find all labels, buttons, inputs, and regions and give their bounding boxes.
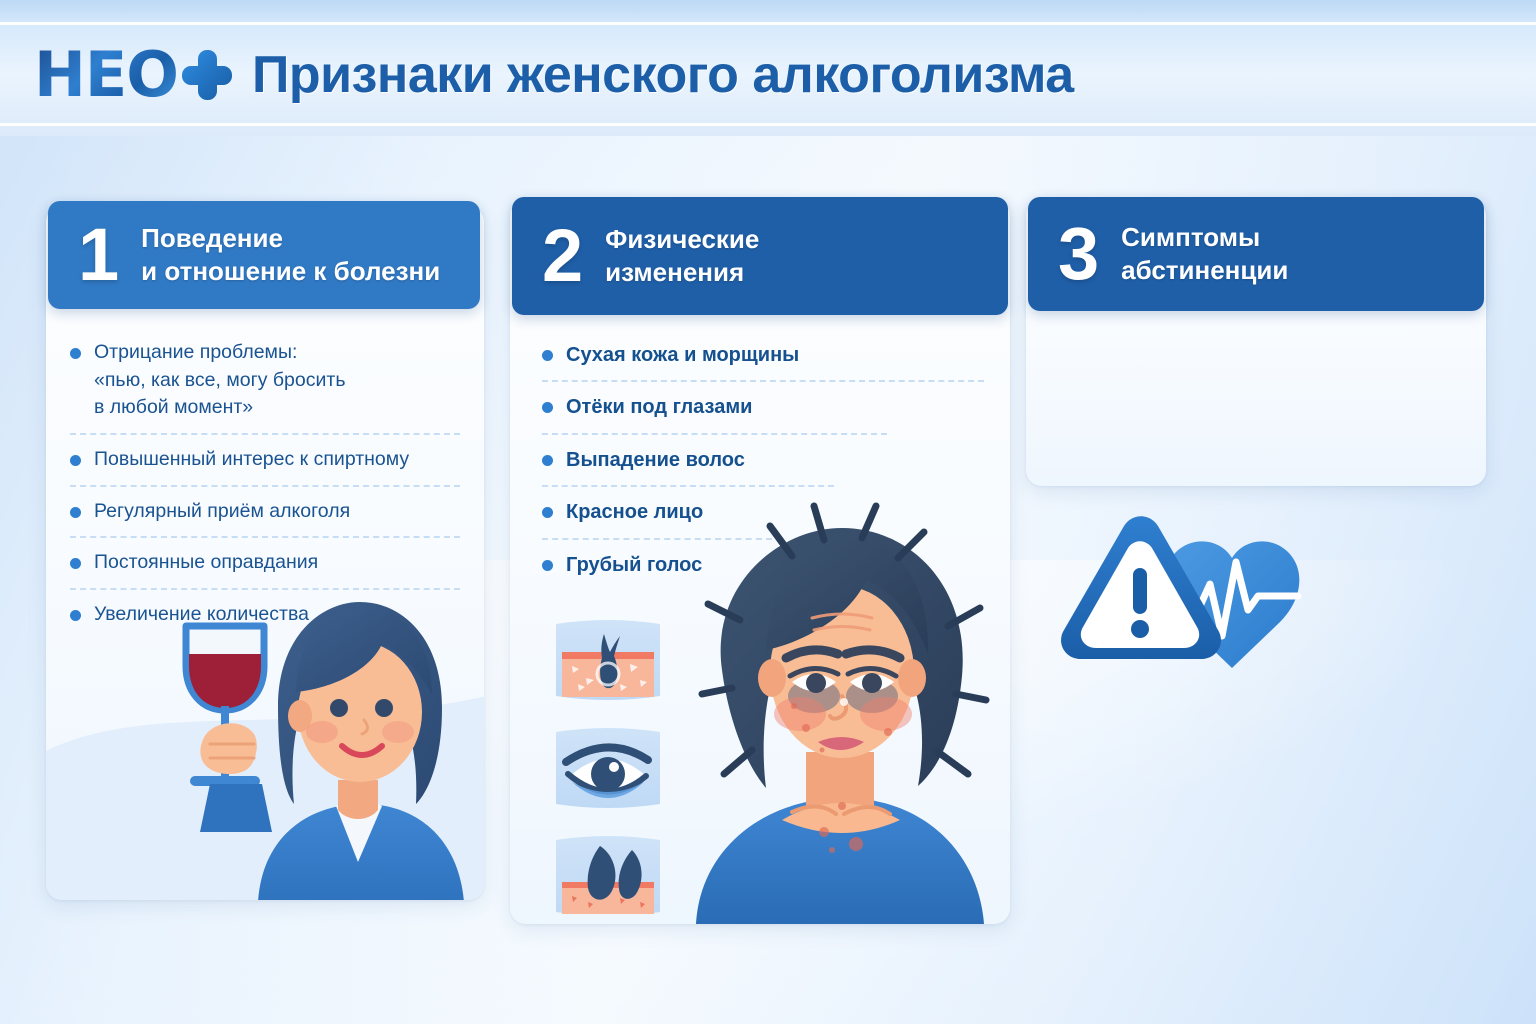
separator [70, 485, 460, 487]
card-behavior-body: Отрицание проблемы:«пью, как все, могу б… [46, 206, 484, 900]
list-item: Постоянные оправдания [70, 540, 460, 586]
bullet-icon [70, 348, 81, 359]
card-behavior-list: Отрицание проблемы:«пью, как все, могу б… [70, 330, 460, 638]
list-item-label: Отёки под глазами [566, 393, 752, 421]
card-title: Симптомы абстиненции [1121, 221, 1288, 288]
list-item-label: Красное лицо [566, 498, 703, 526]
card-number: 3 [1058, 221, 1099, 288]
list-item-label: Повышенный интерес к спиртному [94, 446, 409, 474]
bullet-icon [70, 507, 81, 518]
card-behavior: Отрицание проблемы:«пью, как все, могу б… [46, 206, 484, 900]
bullet-icon [70, 610, 81, 621]
list-item: Выпадение волос [542, 437, 984, 483]
list-item-label: Регулярный приём алкоголя [94, 498, 350, 526]
card-physical: Сухая кожа и морщины Отёки под глазами В… [510, 200, 1010, 924]
card-withdrawal: Ухудшение состояния без дозы Раздражител… [1026, 200, 1486, 486]
puffy-eye-icon [556, 728, 660, 808]
card-title-line1: Поведение [141, 223, 283, 253]
card-title-line2: и отношение к болезни [141, 256, 440, 286]
list-item-label: Постоянные оправдания [94, 549, 318, 577]
card-title: Поведение и отношение к болезни [141, 222, 440, 289]
separator [542, 433, 887, 435]
card-withdrawal-header[interactable]: 3 Симптомы абстиненции [1028, 197, 1484, 311]
card-behavior-header[interactable]: 1 Поведение и отношение к болезни [48, 201, 480, 309]
cards-container: Отрицание проблемы:«пью, как все, могу б… [0, 0, 1536, 1024]
bullet-icon [542, 507, 553, 518]
card-physical-list: Сухая кожа и морщины Отёки под глазами В… [542, 332, 984, 588]
list-item: Красное лицо [542, 489, 984, 535]
list-item: Отрицание проблемы:«пью, как все, могу б… [70, 330, 460, 431]
list-item: Регулярный приём алкоголя [70, 489, 460, 535]
separator [542, 380, 984, 382]
separator [70, 588, 460, 590]
list-item: Увеличение количества [70, 592, 460, 638]
separator [70, 433, 460, 435]
hair-loss-icon [556, 836, 660, 914]
card-title: Физические изменения [605, 223, 759, 290]
list-item: Грубый голос [542, 542, 984, 588]
bullet-icon [70, 455, 81, 466]
separator [542, 485, 834, 487]
separator [70, 536, 460, 538]
list-item-label: Увеличение количества [94, 601, 309, 629]
list-item-label: Грубый голос [566, 551, 702, 579]
list-item: Повышенный интерес к спиртному [70, 437, 460, 483]
bullet-icon [542, 350, 553, 361]
bullet-icon [542, 455, 553, 466]
card-title-line1: Физические [605, 224, 759, 254]
bullet-icon [70, 558, 81, 569]
dry-skin-icon [556, 620, 660, 700]
list-item-label: Выпадение волос [566, 446, 745, 474]
list-item-label: Отрицание проблемы:«пью, как все, могу б… [94, 339, 345, 422]
card-title-line1: Симптомы [1121, 222, 1260, 252]
list-item: Отёки под глазами [542, 384, 984, 430]
list-item: Сухая кожа и морщины [542, 332, 984, 378]
warning-and-heartbeat-illustration [1054, 512, 1324, 682]
card-number: 1 [78, 222, 119, 289]
card-number: 2 [542, 223, 583, 290]
list-item-label: Сухая кожа и морщины [566, 341, 799, 369]
card-title-line2: абстиненции [1121, 255, 1288, 285]
card-title-line2: изменения [605, 257, 744, 287]
separator [542, 538, 772, 540]
bullet-icon [542, 402, 553, 413]
card-physical-header[interactable]: 2 Физические изменения [512, 197, 1008, 315]
symptom-icon-tiles [548, 614, 676, 914]
bullet-icon [542, 560, 553, 571]
